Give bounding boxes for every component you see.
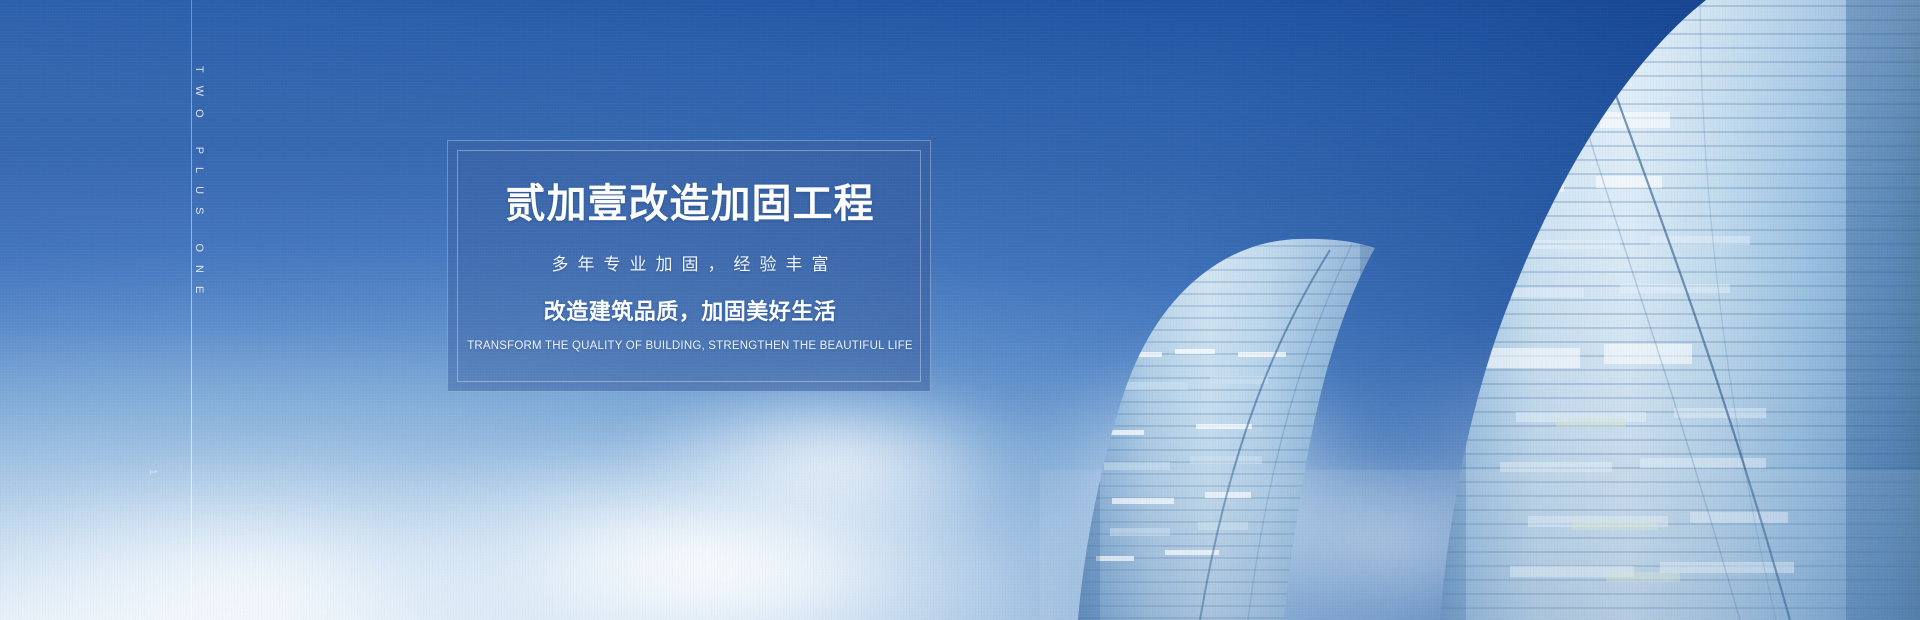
hero-text-panel: 贰加壹改造加固工程 多年专业加固，经验丰富 改造建筑品质，加固美好生活 TRAN… [447, 140, 931, 392]
hero-slogan: 改造建筑品质，加固美好生活 [544, 302, 837, 324]
vertical-brand-label: TWO PLUS ONE [177, 66, 205, 306]
skyscrapers-illustration [0, 0, 1920, 620]
hero-subtitle: 多年专业加固，经验丰富 [543, 257, 838, 274]
hero-slogan-english: TRANSFORM THE QUALITY OF BUILDING, STREN… [467, 341, 913, 353]
hero-panel-content: 贰加壹改造加固工程 多年专业加固，经验丰富 改造建筑品质，加固美好生活 TRAN… [448, 141, 932, 393]
hero-banner: TWO PLUS ONE 1 贰加壹改造加固工程 多年专业加固，经验丰富 改造建… [0, 0, 1920, 620]
hero-title: 贰加壹改造加固工程 [506, 184, 875, 224]
vertical-slide-index: 1 [147, 469, 158, 477]
